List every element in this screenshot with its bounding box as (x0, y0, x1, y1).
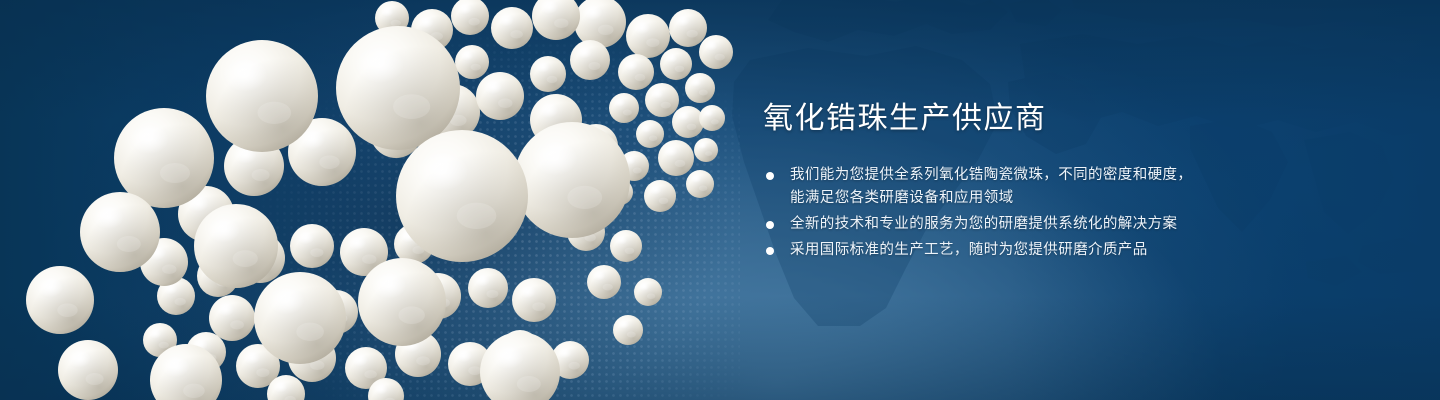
bullet-dot-icon (766, 247, 774, 255)
bullet-text-line2: 能满足您各类研磨设备和应用领域 (790, 187, 1323, 210)
page-title: 氧化锆珠生产供应商 (763, 104, 1323, 134)
bullet-text-line1: 我们能为您提供全系列氧化锆陶瓷微珠，不同的密度和硬度， (790, 167, 1192, 183)
banner-copy-block: 氧化锆珠生产供应商 我们能为您提供全系列氧化锆陶瓷微珠，不同的密度和硬度， 能满… (763, 104, 1323, 265)
list-item: 我们能为您提供全系列氧化锆陶瓷微珠，不同的密度和硬度， 能满足您各类研磨设备和应… (763, 164, 1323, 210)
list-item: 全新的技术和专业的服务为您的研磨提供系统化的解决方案 (763, 213, 1323, 236)
list-item: 采用国际标准的生产工艺，随时为您提供研磨介质产品 (763, 239, 1323, 262)
zirconia-beads-photo (0, 0, 760, 400)
bullet-text-line1: 全新的技术和专业的服务为您的研磨提供系统化的解决方案 (790, 216, 1177, 232)
bullet-text-line1: 采用国际标准的生产工艺，随时为您提供研磨介质产品 (790, 242, 1148, 258)
bullet-dot-icon (766, 221, 774, 229)
hero-banner: 氧化锆珠生产供应商 我们能为您提供全系列氧化锆陶瓷微珠，不同的密度和硬度， 能满… (0, 0, 1440, 400)
feature-bullet-list: 我们能为您提供全系列氧化锆陶瓷微珠，不同的密度和硬度， 能满足您各类研磨设备和应… (763, 164, 1323, 262)
bullet-dot-icon (766, 172, 774, 180)
